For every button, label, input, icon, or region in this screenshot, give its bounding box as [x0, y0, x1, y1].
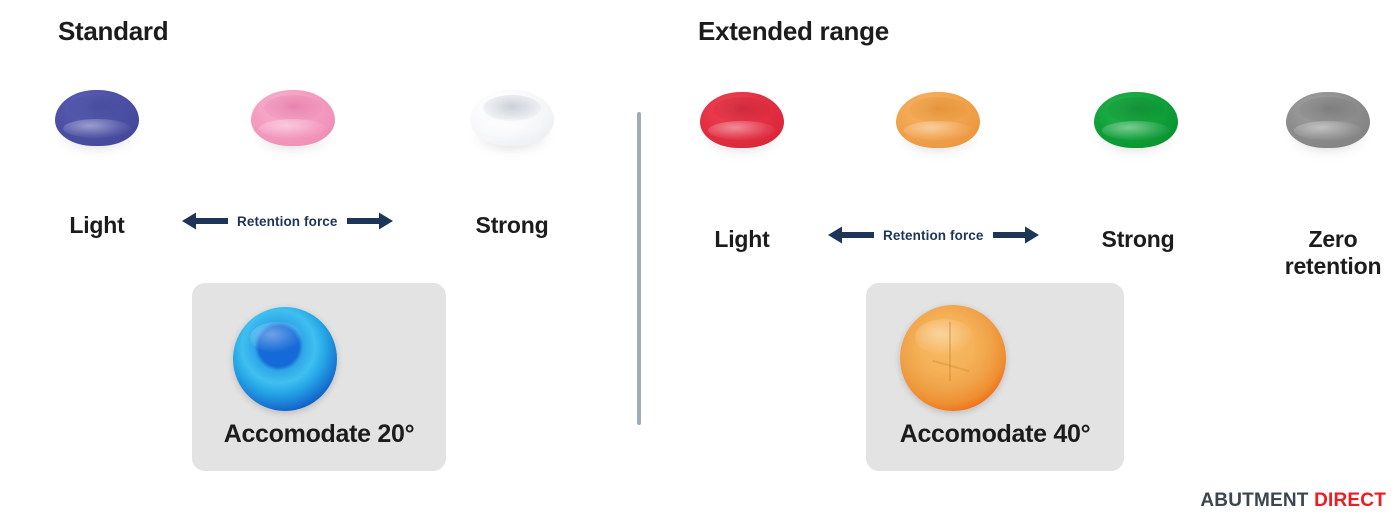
- card-accomodate-20: Accomodate 20°: [192, 283, 446, 471]
- blue-ring-insert: [233, 307, 337, 411]
- diagram-canvas: Standard Extended range Light Retention …: [0, 0, 1400, 524]
- cap-gloss: [1294, 121, 1361, 140]
- cap-gray: [1286, 92, 1370, 148]
- section-divider: [637, 112, 641, 425]
- retention-force-label: Retention force: [883, 228, 984, 243]
- orange-ring-insert: [900, 305, 1006, 411]
- cap-gloss: [708, 121, 775, 140]
- card-caption-20: Accomodate 20°: [192, 420, 446, 449]
- card-accomodate-40: Accomodate 40°: [866, 283, 1124, 471]
- cap-rim: [264, 95, 321, 121]
- arrow-right-icon: [347, 210, 393, 232]
- card-caption-40: Accomodate 40°: [866, 420, 1124, 449]
- retention-force-label: Retention force: [237, 214, 338, 229]
- cap-gloss: [904, 121, 971, 140]
- arrow-right-icon: [993, 224, 1039, 246]
- cap-blue: [55, 90, 139, 146]
- disc-highlight: [915, 319, 974, 355]
- cap-gloss: [63, 119, 130, 138]
- cap-gloss: [259, 119, 326, 138]
- label-zero-retention: Zero retention: [1258, 226, 1400, 280]
- brand-logo: ABUTMENT DIRECT: [1200, 490, 1386, 512]
- section-title-extended: Extended range: [698, 16, 889, 47]
- disc-seam-vertical: [949, 322, 951, 381]
- cap-orange: [896, 92, 980, 148]
- disc-seam-diagonal: [932, 360, 969, 372]
- brand-logo-abutment: ABUTMENT: [1200, 490, 1308, 511]
- cap-rim: [713, 97, 770, 123]
- cap-gloss: [478, 119, 545, 138]
- cap-green: [1094, 92, 1178, 148]
- cap-gloss: [1102, 121, 1169, 140]
- arrow-left-icon: [182, 210, 228, 232]
- label-standard-strong: Strong: [450, 212, 574, 239]
- cap-rim: [1299, 97, 1356, 123]
- cap-rim: [68, 95, 125, 121]
- cap-rim: [909, 97, 966, 123]
- label-extended-light: Light: [690, 226, 794, 253]
- cap-white: [470, 90, 554, 146]
- cap-rim: [483, 95, 540, 121]
- cap-red: [700, 92, 784, 148]
- retention-force-extended: Retention force: [828, 224, 1039, 246]
- disc-highlight: [250, 322, 304, 353]
- brand-logo-direct: DIRECT: [1314, 490, 1386, 511]
- cap-pink: [251, 90, 335, 146]
- section-title-standard: Standard: [58, 16, 168, 47]
- retention-force-standard: Retention force: [182, 210, 393, 232]
- label-extended-strong: Strong: [1080, 226, 1196, 253]
- label-standard-light: Light: [40, 212, 154, 239]
- arrow-left-icon: [828, 224, 874, 246]
- cap-rim: [1107, 97, 1164, 123]
